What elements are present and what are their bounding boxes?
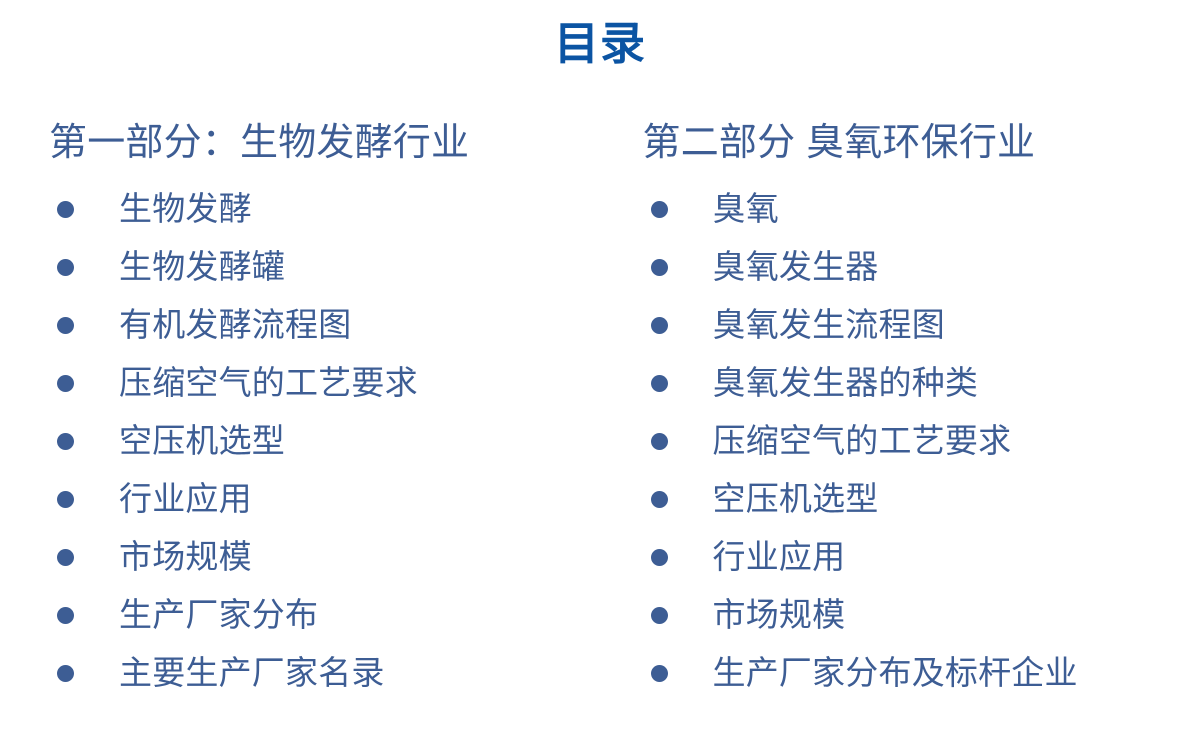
list-item[interactable]: 有机发酵流程图 bbox=[49, 296, 607, 354]
list-item[interactable]: 臭氧发生器的种类 bbox=[643, 354, 1200, 412]
list-item-label: 市场规模 bbox=[713, 596, 846, 634]
list-item-label: 主要生产厂家名录 bbox=[119, 654, 385, 692]
list-item-label: 臭氧发生器 bbox=[713, 248, 879, 286]
bullet-dot-icon bbox=[651, 201, 668, 218]
bullet-dot-icon bbox=[57, 375, 74, 392]
list-item-label: 空压机选型 bbox=[713, 480, 879, 518]
list-item[interactable]: 压缩空气的工艺要求 bbox=[643, 412, 1200, 470]
list-item[interactable]: 空压机选型 bbox=[643, 470, 1200, 528]
bullet-dot-icon bbox=[651, 665, 668, 682]
list-item-label: 生物发酵 bbox=[119, 190, 252, 228]
bullet-dot-icon bbox=[57, 433, 74, 450]
list-item-label: 行业应用 bbox=[713, 538, 846, 576]
list-item[interactable]: 行业应用 bbox=[643, 528, 1200, 586]
section-heading-part-one: 第一部分：生物发酵行业 bbox=[49, 119, 607, 167]
list-item-label: 臭氧发生流程图 bbox=[713, 306, 945, 344]
list-item-label: 市场规模 bbox=[119, 538, 252, 576]
bullet-dot-icon bbox=[57, 491, 74, 508]
list-item[interactable]: 臭氧 bbox=[643, 180, 1200, 238]
list-item[interactable]: 市场规模 bbox=[49, 528, 607, 586]
section-heading-part-two: 第二部分 臭氧环保行业 bbox=[643, 119, 1200, 167]
list-item[interactable]: 生产厂家分布 bbox=[49, 586, 607, 644]
list-item-label: 行业应用 bbox=[119, 480, 252, 518]
table-of-contents-slide: 目录 第一部分：生物发酵行业 生物发酵 生物发酵罐 有机发酵流程图 bbox=[0, 0, 1200, 729]
list-item-label: 生产厂家分布及标杆企业 bbox=[713, 654, 1078, 692]
list-item-label: 空压机选型 bbox=[119, 422, 285, 460]
list-item[interactable]: 臭氧发生流程图 bbox=[643, 296, 1200, 354]
list-item[interactable]: 压缩空气的工艺要求 bbox=[49, 354, 607, 412]
toc-columns: 第一部分：生物发酵行业 生物发酵 生物发酵罐 有机发酵流程图 压缩空气的工艺要求 bbox=[0, 119, 1200, 702]
bullet-dot-icon bbox=[57, 607, 74, 624]
bullet-dot-icon bbox=[651, 549, 668, 566]
bullet-dot-icon bbox=[651, 375, 668, 392]
toc-column-part-one: 第一部分：生物发酵行业 生物发酵 生物发酵罐 有机发酵流程图 压缩空气的工艺要求 bbox=[49, 119, 607, 702]
bullet-dot-icon bbox=[651, 317, 668, 334]
list-item[interactable]: 臭氧发生器 bbox=[643, 238, 1200, 296]
page-title: 目录 bbox=[0, 18, 1200, 70]
list-item-label: 臭氧 bbox=[713, 190, 779, 228]
bullet-dot-icon bbox=[57, 201, 74, 218]
toc-column-part-two: 第二部分 臭氧环保行业 臭氧 臭氧发生器 臭氧发生流程图 臭氧发生器的种类 bbox=[643, 119, 1200, 702]
list-item-label: 压缩空气的工艺要求 bbox=[119, 364, 418, 402]
list-item-label: 臭氧发生器的种类 bbox=[713, 364, 979, 402]
list-item[interactable]: 行业应用 bbox=[49, 470, 607, 528]
list-item[interactable]: 主要生产厂家名录 bbox=[49, 644, 607, 702]
list-item[interactable]: 生产厂家分布及标杆企业 bbox=[643, 644, 1200, 702]
list-item[interactable]: 生物发酵 bbox=[49, 180, 607, 238]
bullet-dot-icon bbox=[651, 491, 668, 508]
bullet-dot-icon bbox=[57, 317, 74, 334]
bullet-dot-icon bbox=[57, 259, 74, 276]
list-item-label: 生产厂家分布 bbox=[119, 596, 318, 634]
list-item[interactable]: 市场规模 bbox=[643, 586, 1200, 644]
list-item-label: 有机发酵流程图 bbox=[119, 306, 351, 344]
list-item[interactable]: 生物发酵罐 bbox=[49, 238, 607, 296]
list-item-label: 生物发酵罐 bbox=[119, 248, 285, 286]
bullet-dot-icon bbox=[651, 607, 668, 624]
bullet-dot-icon bbox=[651, 259, 668, 276]
toc-list-part-two: 臭氧 臭氧发生器 臭氧发生流程图 臭氧发生器的种类 压缩空气的工艺要求 bbox=[643, 180, 1200, 702]
list-item-label: 压缩空气的工艺要求 bbox=[713, 422, 1012, 460]
list-item[interactable]: 空压机选型 bbox=[49, 412, 607, 470]
bullet-dot-icon bbox=[57, 665, 74, 682]
toc-list-part-one: 生物发酵 生物发酵罐 有机发酵流程图 压缩空气的工艺要求 空压机选型 bbox=[49, 180, 607, 702]
bullet-dot-icon bbox=[651, 433, 668, 450]
bullet-dot-icon bbox=[57, 549, 74, 566]
